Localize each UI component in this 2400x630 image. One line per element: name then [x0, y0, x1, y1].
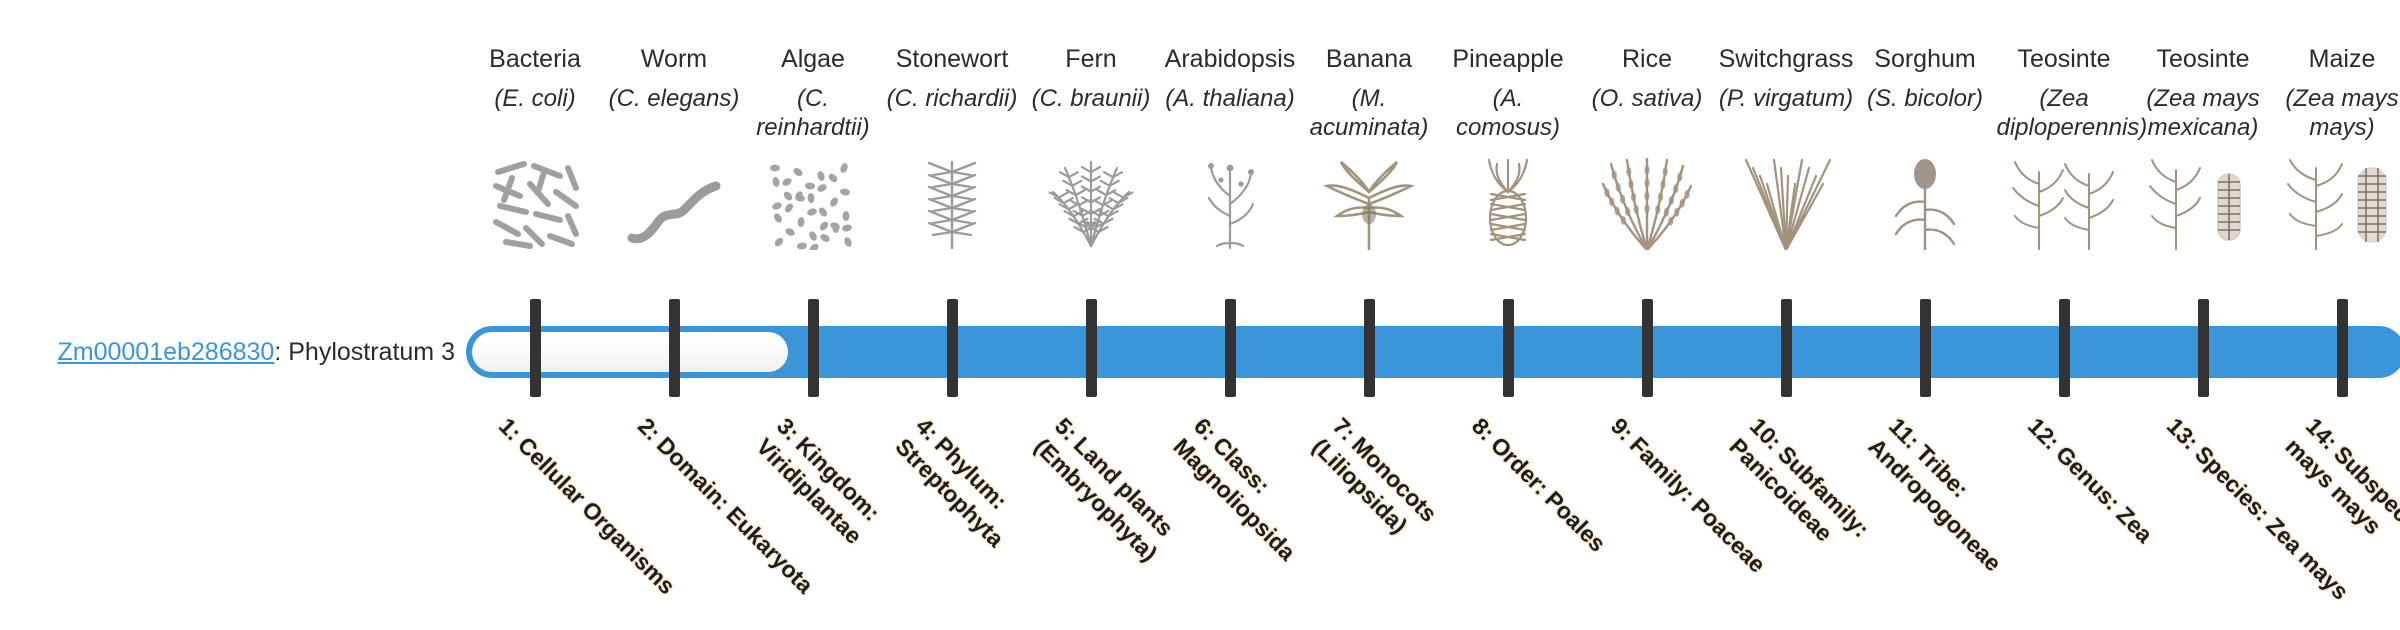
- species-column: Teosinte(Zea diploperennis): [1995, 0, 2134, 142]
- fern-icon: [1022, 155, 1161, 250]
- species-scientific-name: (C. elegans): [605, 84, 744, 113]
- gene-label-separator: :: [274, 338, 288, 366]
- species-common-name: Banana: [1300, 44, 1439, 75]
- pineapple-icon: [1439, 155, 1578, 250]
- species-column: Worm(C. elegans): [605, 0, 744, 113]
- species-column: Pineapple(A. comosus): [1439, 0, 1578, 142]
- species-column: Bacteria(E. coli): [466, 0, 605, 113]
- species-scientific-name: (A. thaliana): [1161, 84, 1300, 113]
- species-scientific-name: (C. richardii): [883, 84, 1022, 113]
- tick-mark: [1642, 299, 1653, 397]
- species-column: Fern(C. braunii): [1022, 0, 1161, 113]
- species-scientific-name: (Zea mays mays): [2273, 84, 2400, 142]
- tick-mark: [808, 299, 819, 397]
- species-common-name: Algae: [744, 44, 883, 75]
- teosinte-diplo-icon: [1995, 155, 2134, 250]
- tick-mark: [1920, 299, 1931, 397]
- bacteria-icon: [466, 155, 605, 250]
- species-scientific-name: (A. comosus): [1439, 84, 1578, 142]
- teosinte-mex-icon: [2134, 155, 2273, 250]
- species-column: Algae(C. reinhardtii): [744, 0, 883, 142]
- species-common-name: Worm: [605, 44, 744, 75]
- species-scientific-name: (Zea diploperennis): [1995, 84, 2134, 142]
- species-common-name: Bacteria: [466, 44, 605, 75]
- species-column: Stonewort(C. richardii): [883, 0, 1022, 113]
- species-common-name: Pineapple: [1439, 44, 1578, 75]
- species-scientific-name: (M. acuminata): [1300, 84, 1439, 142]
- species-scientific-name: (S. bicolor): [1856, 84, 1995, 113]
- arabidopsis-icon: [1161, 155, 1300, 250]
- species-scientific-name: (C. braunii): [1022, 84, 1161, 113]
- switchgrass-icon: [1717, 155, 1856, 250]
- tick-mark: [1781, 299, 1792, 397]
- tick-mark: [1364, 299, 1375, 397]
- tick-mark: [947, 299, 958, 397]
- algae-icon: [744, 155, 883, 250]
- species-column: Switchgrass(P. virgatum): [1717, 0, 1856, 113]
- species-common-name: Stonewort: [883, 44, 1022, 75]
- progress-bar-unfilled: [472, 332, 788, 372]
- species-column: Teosinte(Zea mays mexicana): [2134, 0, 2273, 142]
- tick-mark: [2337, 299, 2348, 397]
- species-scientific-name: (C. reinhardtii): [744, 84, 883, 142]
- gene-phylostratum-label: Zm00001eb286830: Phylostratum 3: [0, 337, 455, 367]
- tick-mark: [1086, 299, 1097, 397]
- species-column: Banana(M. acuminata): [1300, 0, 1439, 142]
- sorghum-icon: [1856, 155, 1995, 250]
- tick-mark: [2198, 299, 2209, 397]
- gene-id-link[interactable]: Zm00001eb286830: [57, 338, 274, 366]
- maize-icon: [2273, 155, 2400, 250]
- tick-mark: [1225, 299, 1236, 397]
- species-common-name: Maize: [2273, 44, 2400, 75]
- tick-mark: [2059, 299, 2070, 397]
- species-common-name: Switchgrass: [1717, 44, 1856, 75]
- worm-icon: [605, 155, 744, 250]
- species-scientific-name: (E. coli): [466, 84, 605, 113]
- species-scientific-name: (O. sativa): [1578, 84, 1717, 113]
- species-column: Arabidopsis(A. thaliana): [1161, 0, 1300, 113]
- species-column: Maize(Zea mays mays): [2273, 0, 2400, 142]
- species-common-name: Teosinte: [1995, 44, 2134, 75]
- phylostratum-value-text: Phylostratum 3: [288, 338, 455, 366]
- phylostratum-figure: Zm00001eb286830: Phylostratum 3 Bacteria…: [0, 0, 2400, 580]
- species-common-name: Teosinte: [2134, 44, 2273, 75]
- stonewort-icon: [883, 155, 1022, 250]
- species-header-row: Bacteria(E. coli) Worm(C. elegans) Algae…: [466, 0, 2358, 330]
- species-column: Sorghum(S. bicolor): [1856, 0, 1995, 113]
- species-common-name: Rice: [1578, 44, 1717, 75]
- species-scientific-name: (P. virgatum): [1717, 84, 1856, 113]
- banana-icon: [1300, 155, 1439, 250]
- species-common-name: Fern: [1022, 44, 1161, 75]
- species-common-name: Sorghum: [1856, 44, 1995, 75]
- tick-mark: [530, 299, 541, 397]
- species-common-name: Arabidopsis: [1161, 44, 1300, 75]
- tick-mark: [669, 299, 680, 397]
- rice-icon: [1578, 155, 1717, 250]
- phylostratum-progress-bar[interactable]: [466, 326, 2400, 378]
- species-column: Rice(O. sativa): [1578, 0, 1717, 113]
- tick-mark: [1503, 299, 1514, 397]
- species-scientific-name: (Zea mays mexicana): [2134, 84, 2273, 142]
- progress-bar-track: [466, 326, 2400, 378]
